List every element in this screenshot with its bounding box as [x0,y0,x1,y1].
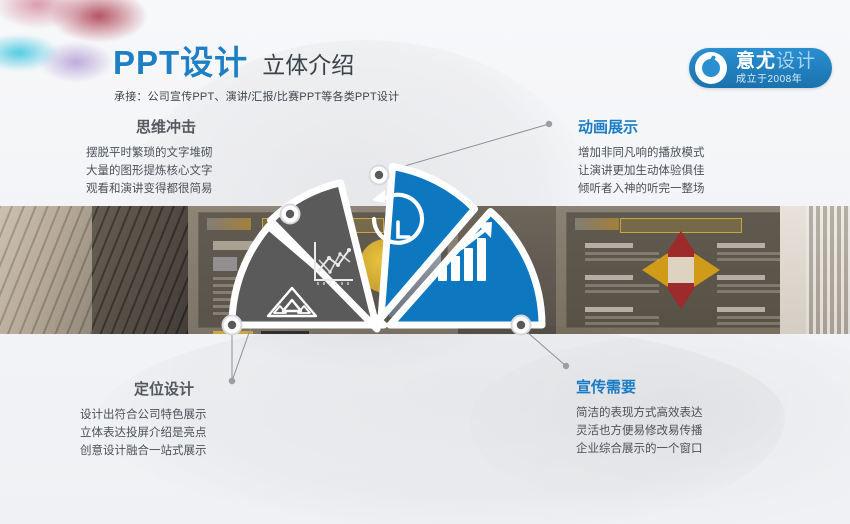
callout-xuanchuan: 宣传需要 简洁的表现方式高效表达 灵活也方便易修改易传播 企业综合展示的一个窗口 [576,380,756,458]
callout-siwei-heading: 思维冲击 [86,120,246,135]
callout-donghua-body: 增加非同凡响的播放模式 让演讲更加生动体验俱佳 倾听者入神的听完一整场 [578,144,758,198]
callout-xuanchuan-body: 简洁的表现方式高效表达 灵活也方便易修改易传播 企业综合展示的一个窗口 [576,404,756,458]
callout-donghua: 动画展示 增加非同凡响的播放模式 让演讲更加生动体验俱佳 倾听者入神的听完一整场 [578,120,758,198]
node-donghua-core [375,171,383,179]
callout-siwei-body: 摆脱平时繁琐的文字堆砌 大量的图形提炼核心文字 观看和演讲变得都很简易 [86,144,246,198]
connector-dot-xuanchuan [563,363,569,369]
connector-dot-donghua [546,121,552,127]
callout-siwei: 思维冲击 摆脱平时繁琐的文字堆砌 大量的图形提炼核心文字 观看和演讲变得都很简易 [86,120,246,198]
callout-dingwei: 定位设计 设计出符合公司特色展示 立体表达投屏介绍是亮点 创意设计融合一站式展示 [80,382,248,460]
callout-dingwei-body: 设计出符合公司特色展示 立体表达投屏介绍是亮点 创意设计融合一站式展示 [80,406,248,460]
slide-canvas: PPT设计 立体介绍 承接：公司宣传PPT、演讲/汇报/比赛PPT等各类PPT设… [0,0,850,524]
callout-donghua-heading: 动画展示 [578,120,758,135]
node-dingwei-core [228,321,236,329]
node-siwei-core [286,210,294,218]
callout-dingwei-heading: 定位设计 [80,382,248,397]
callout-xuanchuan-heading: 宣传需要 [576,380,756,395]
node-xuanchuan-core [517,321,525,329]
